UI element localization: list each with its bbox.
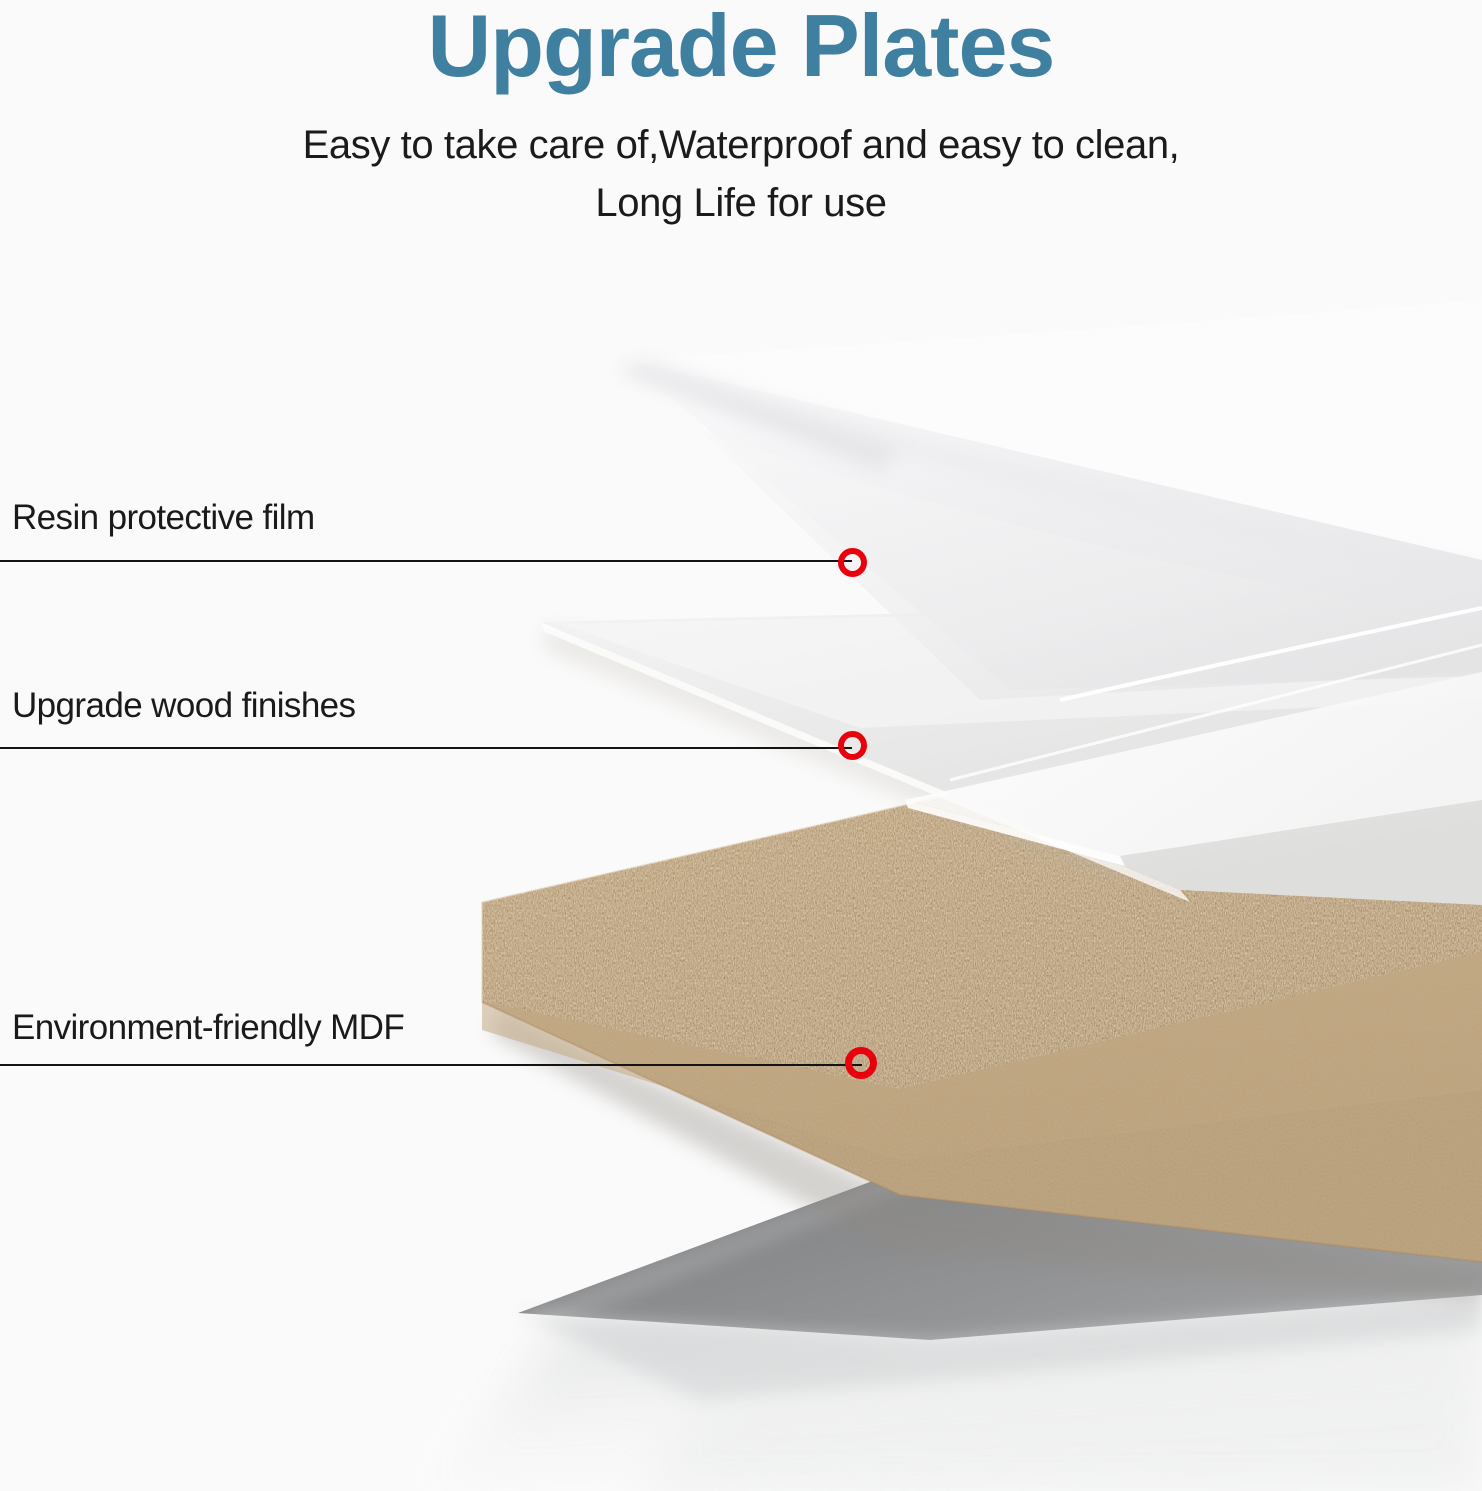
marker-dot-resin-protective-film	[838, 548, 867, 577]
product-infographic: Upgrade Plates Easy to take care of,Wate…	[0, 0, 1482, 1491]
marker-layer	[0, 0, 1482, 1491]
marker-dot-environment-friendly-mdf	[845, 1047, 877, 1079]
marker-dot-upgrade-wood-finishes	[838, 731, 867, 760]
